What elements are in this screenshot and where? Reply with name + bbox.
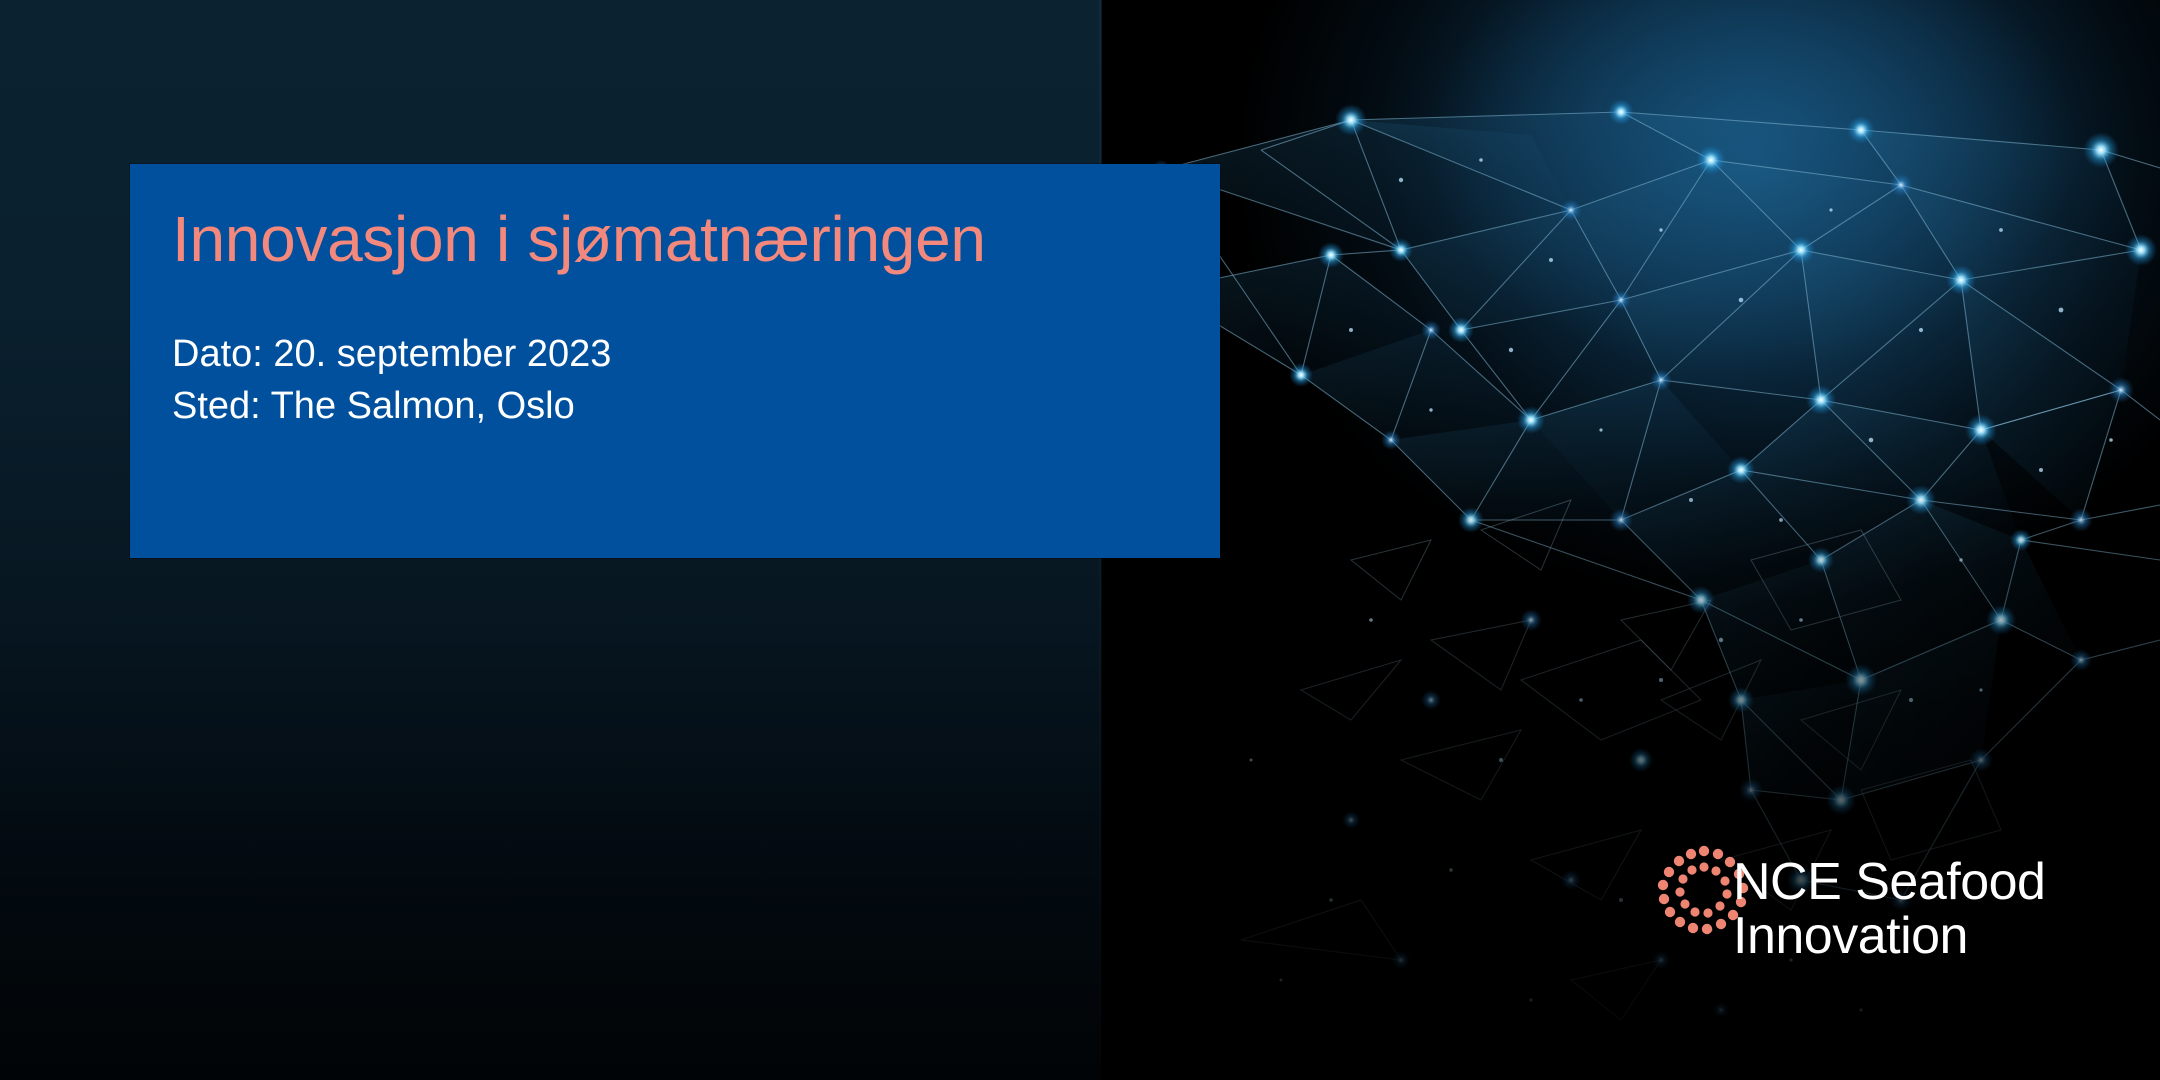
event-info-card-content: Innovasjon i sjømatnæringen Dato: 20. se… (172, 206, 1190, 433)
event-date-line: Dato: 20. september 2023 (172, 329, 1190, 381)
logo-line-1: NCE Seafood (1733, 855, 2045, 909)
event-info-card: Innovasjon i sjømatnæringen Dato: 20. se… (130, 164, 1220, 558)
logo-line-2: Innovation (1733, 909, 2045, 963)
nce-seafood-innovation-logo: NCE Seafood Innovation (1655, 843, 2125, 1008)
event-venue-line: Sted: The Salmon, Oslo (172, 381, 1190, 433)
page-title: Innovasjon i sjømatnæringen (172, 206, 1190, 273)
event-meta-block: Dato: 20. september 2023 Sted: The Salmo… (172, 329, 1190, 432)
logo-wordmark: NCE Seafood Innovation (1733, 855, 2045, 963)
slide-root: Innovasjon i sjømatnæringen Dato: 20. se… (0, 0, 2160, 1080)
